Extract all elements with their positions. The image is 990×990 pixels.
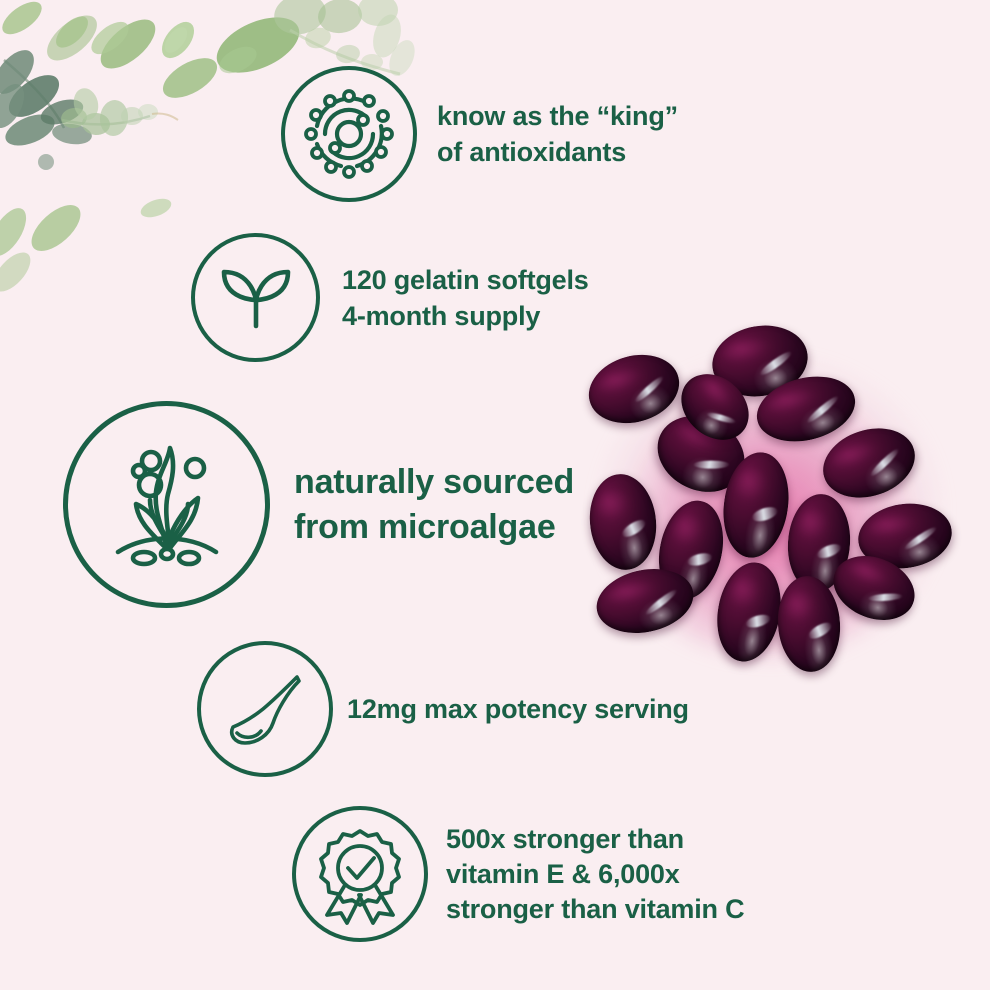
infographic-canvas: know as the “king” of antioxidants 120 g… (0, 0, 990, 990)
award-ribbon-check-icon (309, 823, 411, 925)
feature-text-softgel-count: 120 gelatin softgels 4-month supply (342, 262, 589, 334)
feature-line: vitamin E & 6,000x (446, 857, 744, 892)
icon-circle-potency (197, 641, 333, 777)
feature-line: 4-month supply (342, 298, 589, 334)
feature-text-potency-comparison: 500x stronger than vitamin E & 6,000x st… (446, 822, 744, 927)
feature-row-antioxidants: know as the “king” of antioxidants (281, 66, 678, 202)
feature-line: naturally sourced (294, 460, 574, 505)
feature-text-microalgae: naturally sourced from microalgae (294, 460, 574, 550)
sprout-leaves-icon (212, 254, 300, 342)
feature-text-potency: 12mg max potency serving (347, 691, 689, 727)
spoon-scoop-icon (213, 657, 317, 761)
feature-row-microalgae: naturally sourced from microalgae (63, 401, 574, 608)
feature-text-antioxidants: know as the “king” of antioxidants (437, 98, 678, 170)
icon-circle-antioxidants (281, 66, 417, 202)
feature-line: stronger than vitamin C (446, 892, 744, 927)
feature-line: 12mg max potency serving (347, 691, 689, 727)
feature-line: of antioxidants (437, 134, 678, 170)
feature-row-potency: 12mg max potency serving (197, 641, 689, 777)
feature-line: 120 gelatin softgels (342, 262, 589, 298)
feature-line: 500x stronger than (446, 822, 744, 857)
antioxidant-molecule-icon (297, 82, 401, 186)
icon-circle-softgel-count (191, 233, 320, 362)
feature-line: from microalgae (294, 505, 574, 550)
icon-circle-microalgae (63, 401, 270, 608)
seaweed-algae-icon (92, 430, 242, 580)
feature-row-potency-comparison: 500x stronger than vitamin E & 6,000x st… (292, 806, 744, 942)
feature-row-softgel-count: 120 gelatin softgels 4-month supply (191, 233, 589, 362)
feature-line: know as the “king” (437, 98, 678, 134)
icon-circle-potency-comparison (292, 806, 428, 942)
